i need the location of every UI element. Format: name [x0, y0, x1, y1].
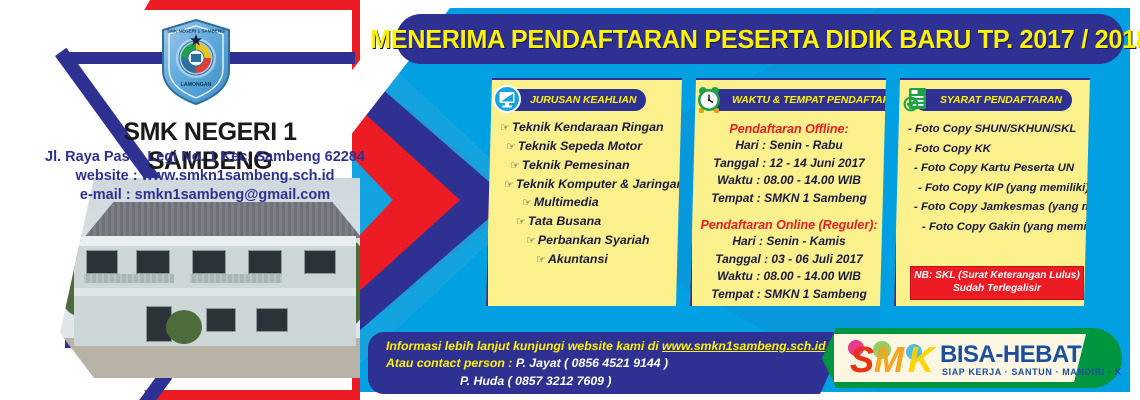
footer-text-block: Informasi lebih lanjut kunjungi website … [386, 338, 856, 390]
list-item: ☞Tata Busana [494, 212, 680, 231]
school-address: Jl. Raya Pasar Legi No. 1 Kec. Sambeng 6… [45, 148, 365, 167]
logo-tagline-main: BISA-HEBAT [940, 341, 1082, 368]
card-waktu-tempat: WAKTU & TEMPAT PENDAFTARAN Pendaftaran O… [690, 78, 890, 310]
document-check-icon [902, 84, 932, 114]
school-email: e-mail : smkn1sambeng@gmail.com [45, 186, 365, 205]
decor-stripe-4 [0, 310, 41, 400]
list-item: ☞Teknik Pemesinan [494, 156, 680, 175]
list-item: - Foto Copy SHUN/SKHUN/SKL [902, 120, 1090, 140]
list-item: - Foto Copy Kartu Peserta UN [902, 159, 1090, 179]
photo-building-floor-line [74, 288, 356, 296]
list-item-label: Teknik Komputer & Jaringan [516, 177, 684, 191]
dash-bullet-icon: - [914, 162, 918, 174]
hand-pointer-icon: ☞ [526, 235, 536, 247]
photo-shrub [166, 310, 202, 344]
list-item-label: Perbankan Syariah [538, 233, 650, 247]
footer-website-link[interactable]: www.smkn1sambeng.sch.id [662, 339, 826, 353]
svg-text:K: K [908, 339, 937, 380]
jurusan-list: ☞Teknik Kendaraan Ringan ☞Teknik Sepeda … [494, 118, 680, 269]
card-syarat-title: SYARAT PENDAFTARAN [940, 94, 1062, 106]
svg-text:SMK NEGERI 1 SAMBENG: SMK NEGERI 1 SAMBENG [167, 29, 225, 34]
footer-contact-label: Atau contact person : [386, 356, 516, 370]
dash-bullet-icon: - [918, 182, 922, 194]
section-line: Hari : Senin - Rabu [696, 137, 882, 155]
list-item: ☞Multimedia [494, 193, 680, 212]
list-item: - Foto Copy Gakin (yang memiliki) [902, 218, 1090, 238]
photo-railing [190, 274, 282, 283]
list-item-label: Teknik Sepeda Motor [518, 139, 642, 153]
smk-bisa-hebat-logo: S M K S M K BISA-HEBAT SIAP KERJA · SANT… [822, 328, 1122, 388]
list-item-label: Tata Busana [528, 214, 601, 228]
note-box: NB: SKL (Surat Keterangan Lulus) Sudah T… [910, 266, 1084, 300]
syarat-list: - Foto Copy SHUN/SKHUN/SKL - Foto Copy K… [902, 120, 1090, 238]
footer-contact-2: P. Huda ( 0857 3212 7609 ) [460, 374, 612, 388]
hand-pointer-icon: ☞ [516, 216, 526, 228]
page-title: MENERIMA PENDAFTARAN PESERTA DIDIK BARU … [370, 24, 1140, 55]
footer-info-prefix: Informasi lebih lanjut kunjungi website … [386, 339, 662, 353]
photo-window [136, 250, 170, 274]
card-syarat-pendaftaran: SYARAT PENDAFTARAN - Foto Copy SHUN/SKHU… [894, 78, 1094, 310]
hand-pointer-icon: ☞ [510, 160, 520, 172]
footer-contact-1: P. Jayat ( 0856 4521 9144 ) [516, 356, 668, 370]
photo-window [248, 250, 282, 274]
dash-bullet-icon: - [908, 123, 912, 135]
logo-tagline-sub: SIAP KERJA · SANTUN · MANDIRI · KREATIF [942, 367, 1122, 377]
card-waktu-header: WAKTU & TEMPAT PENDAFTARAN [706, 89, 915, 111]
section-line: Waktu : 08.00 - 14.00 WIB [696, 172, 882, 190]
list-item-label: Akuntansi [548, 252, 608, 266]
dash-bullet-icon: - [922, 221, 926, 233]
list-item-label: Foto Copy KIP (yang memiliki) [925, 182, 1089, 194]
alarm-clock-icon [694, 84, 724, 114]
list-item: ☞Perbankan Syariah [494, 231, 680, 250]
hand-pointer-icon: ☞ [536, 254, 546, 266]
school-contact-block: Jl. Raya Pasar Legi No. 1 Kec. Sambeng 6… [45, 148, 365, 205]
section-line: Tempat : SMKN 1 Sambeng [696, 190, 882, 208]
list-item-label: Teknik Kendaraan Ringan [512, 120, 664, 134]
hand-pointer-icon: ☞ [500, 122, 510, 134]
card-syarat-body: - Foto Copy SHUN/SKHUN/SKL - Foto Copy K… [902, 120, 1090, 238]
footer-line-3: P. Huda ( 0857 3212 7609 ) [386, 373, 856, 390]
list-item-label: Teknik Pemesinan [522, 158, 630, 172]
list-item: ☞Akuntansi [494, 250, 680, 269]
school-website: website : www.smkn1sambeng.sch.id [45, 167, 365, 186]
photo-building-band [74, 236, 356, 246]
card-jurusan-header: JURUSAN KEAHLIAN [504, 89, 646, 111]
section-line: Tanggal : 12 - 14 Juni 2017 [696, 155, 882, 173]
section-line: Waktu : 08.00 - 14.00 WIB [696, 268, 882, 286]
dash-bullet-icon: - [908, 143, 912, 155]
card-waktu-title: WAKTU & TEMPAT PENDAFTARAN [732, 94, 905, 106]
photo-window [192, 250, 226, 274]
section-line: Tempat : SMKN 1 Sambeng [696, 286, 882, 304]
card-jurusan-title: JURUSAN KEAHLIAN [530, 94, 636, 106]
svg-text:LAMONGAN: LAMONGAN [181, 82, 212, 88]
section-line: Tanggal : 03 - 06 Juli 2017 [696, 251, 882, 269]
card-syarat-header: SYARAT PENDAFTARAN [914, 89, 1072, 111]
card-waktu-body: Pendaftaran Offline: Hari : Senin - Rabu… [696, 122, 882, 303]
list-item-label: Foto Copy Gakin (yang memiliki) [929, 221, 1106, 233]
photo-window [256, 308, 288, 332]
section-heading-offline: Pendaftaran Offline: [696, 122, 882, 136]
note-line-1: NB: SKL (Surat Keterangan Lulus) [913, 270, 1081, 283]
header-banner: MENERIMA PENDAFTARAN PESERTA DIDIK BARU … [396, 14, 1124, 64]
list-item-label: Foto Copy KK [915, 143, 991, 155]
hand-pointer-icon: ☞ [506, 141, 516, 153]
card-jurusan-body: ☞Teknik Kendaraan Ringan ☞Teknik Sepeda … [494, 118, 680, 269]
photo-window [206, 308, 236, 332]
school-building-photo [60, 178, 360, 378]
svg-text:S: S [850, 339, 874, 380]
list-item: - Foto Copy KIP (yang memiliki) [902, 179, 1090, 199]
photo-building-roof [66, 202, 360, 238]
svg-text:M: M [874, 339, 905, 380]
note-line-2: Sudah Terlegalisir [913, 283, 1081, 296]
card-jurusan-keahlian: JURUSAN KEAHLIAN ☞Teknik Kendaraan Ringa… [486, 78, 686, 310]
monitor-icon [492, 84, 522, 114]
list-item-label: Foto Copy Kartu Peserta UN [921, 162, 1074, 174]
list-item-label: Multimedia [534, 195, 599, 209]
banner-root: SMK NEGERI 1 SAMBENG LAMONGAN SMK NEGERI… [0, 0, 1140, 400]
section-line: Hari : Senin - Kamis [696, 233, 882, 251]
dash-bullet-icon: - [914, 201, 918, 213]
list-item: ☞Teknik Sepeda Motor [494, 137, 680, 156]
section-heading-online: Pendaftaran Online (Reguler): [696, 218, 882, 232]
footer-line-2: Atau contact person : P. Jayat ( 0856 45… [386, 355, 856, 372]
list-item: - Foto Copy Jamkesmas (yang memiliki) [902, 198, 1090, 218]
list-item: ☞Teknik Kendaraan Ringan [494, 118, 680, 137]
photo-window [304, 250, 336, 274]
list-item: - Foto Copy KK [902, 140, 1090, 160]
hand-pointer-icon: ☞ [522, 197, 532, 209]
school-emblem: SMK NEGERI 1 SAMBENG LAMONGAN [159, 18, 233, 106]
footer-line-1: Informasi lebih lanjut kunjungi website … [386, 338, 856, 355]
hand-pointer-icon: ☞ [504, 179, 514, 191]
photo-window [86, 250, 118, 274]
list-item-label: Foto Copy SHUN/SKHUN/SKL [915, 123, 1076, 135]
photo-railing [84, 274, 174, 283]
list-item: ☞Teknik Komputer & Jaringan [494, 175, 680, 194]
